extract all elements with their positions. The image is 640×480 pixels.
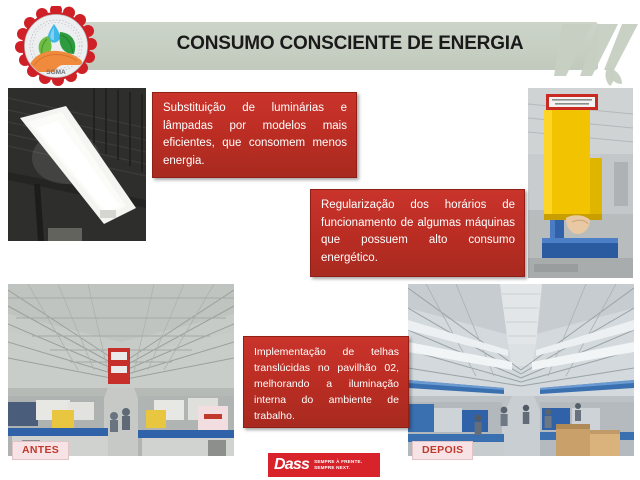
dass-logo: Dass SEMPRE À FRENTE. SEMPRE NEXT.: [268, 453, 380, 477]
sgma-seal-logo: SGMA: [14, 6, 98, 90]
photo-yellow-machine: [528, 88, 633, 278]
dass-tagline-line2: SEMPRE NEXT.: [314, 465, 350, 470]
slide-canvas: CONSUMO CONSCIENTE DE ENERGIA: [0, 0, 640, 480]
callout-machine-schedule: Regularização dos horários de funcioname…: [310, 189, 525, 277]
label-depois: DEPOIS: [412, 441, 473, 460]
page-title: CONSUMO CONSCIENTE DE ENERGIA: [150, 33, 550, 55]
callout-translucent-tiles: Implementação de telhas translúcidas no …: [243, 336, 409, 428]
label-antes: ANTES: [12, 441, 69, 460]
photo-factory-after: [408, 284, 634, 456]
photo-fluorescent-fixture: [8, 88, 146, 241]
photo-factory-before: [8, 284, 234, 456]
dass-tagline-line1: SEMPRE À FRENTE.: [314, 459, 362, 464]
seal-abbreviation: SGMA: [46, 69, 66, 76]
dass-tagline: SEMPRE À FRENTE. SEMPRE NEXT.: [314, 459, 362, 471]
dass-wordmark: Dass: [274, 457, 309, 473]
callout-lighting: Substituição de luminárias e lâmpadas po…: [152, 92, 357, 178]
